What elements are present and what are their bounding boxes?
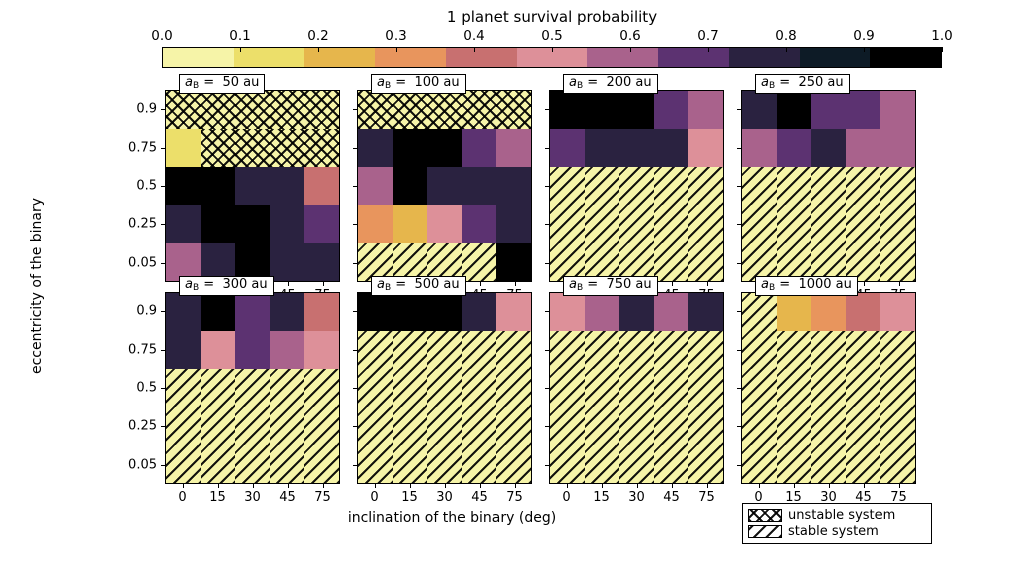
x-tick-mark: [410, 484, 411, 488]
heatmap-cell: [619, 407, 654, 445]
heatmap-cell: [166, 167, 201, 205]
heatmap-cell: [462, 243, 497, 281]
heatmap-cell: [201, 167, 236, 205]
heatmap-cell: [619, 293, 654, 331]
legend-row: unstable system: [748, 507, 926, 523]
x-tick-mark: [323, 484, 324, 488]
heatmap-cell: [358, 167, 393, 205]
heatmap-cell: [393, 369, 428, 407]
heatmap-cells: [358, 91, 531, 281]
colorbar-tick-mark: [162, 47, 163, 52]
y-tick-label: 0.25: [109, 217, 157, 232]
heatmap-cell: [619, 369, 654, 407]
heatmap-cell: [304, 445, 339, 483]
x-tick-mark: [707, 484, 708, 488]
y-tick-mark: [353, 263, 357, 264]
heatmap-cell: [358, 407, 393, 445]
heatmap-cell: [393, 205, 428, 243]
heatmap-cell: [777, 407, 812, 445]
y-tick-mark: [161, 465, 165, 466]
heatmap-cell: [427, 129, 462, 167]
heatmap-panel: [741, 90, 916, 282]
heatmap-cells: [550, 91, 723, 281]
heatmap-cell: [654, 407, 689, 445]
colorbar-tick-label: 0.9: [853, 28, 874, 44]
y-tick-mark: [353, 311, 357, 312]
y-tick-mark: [545, 311, 549, 312]
x-tick-label: 75: [698, 490, 715, 505]
heatmap-cell: [880, 407, 915, 445]
y-tick-label: 0.05: [109, 255, 157, 270]
heatmap-cell: [304, 205, 339, 243]
heatmap-cell: [235, 205, 270, 243]
heatmap-cell: [550, 129, 585, 167]
heatmap-cell: [496, 167, 531, 205]
heatmap-cells: [166, 293, 339, 483]
x-tick-label: 45: [663, 490, 680, 505]
x-tick-mark: [375, 484, 376, 488]
heatmap-cell: [496, 407, 531, 445]
heatmap-cell: [270, 243, 305, 281]
heatmap-cell: [585, 205, 620, 243]
colorbar-tick-mark: [318, 47, 319, 52]
heatmap-cell: [742, 91, 777, 129]
heatmap-cell: [585, 369, 620, 407]
y-tick-mark: [545, 426, 549, 427]
colorbar-tick-mark: [474, 47, 475, 52]
heatmap-cell: [270, 129, 305, 167]
x-tick-mark: [480, 282, 481, 286]
heatmap-cell: [304, 293, 339, 331]
heatmap-panel: [549, 292, 724, 484]
heatmap-cell: [880, 91, 915, 129]
heatmap-cell: [880, 243, 915, 281]
panel-title: aB = 750 au: [563, 276, 658, 296]
heatmap-cell: [462, 91, 497, 129]
y-tick-mark: [161, 311, 165, 312]
heatmap-panel: [549, 90, 724, 282]
x-tick-mark: [899, 282, 900, 286]
heatmap-cell: [201, 331, 236, 369]
heatmap-cell: [201, 293, 236, 331]
y-tick-mark: [161, 186, 165, 187]
heatmap-cell: [393, 331, 428, 369]
x-tick-label: 15: [209, 490, 226, 505]
y-tick-mark: [161, 148, 165, 149]
heatmap-cell: [688, 205, 723, 243]
heatmap-cell: [619, 205, 654, 243]
heatmap-cell: [393, 407, 428, 445]
heatmap-cell: [496, 91, 531, 129]
heatmap-cell: [811, 91, 846, 129]
x-tick-label: 75: [506, 490, 523, 505]
y-tick-mark: [737, 109, 741, 110]
heatmap-cell: [270, 205, 305, 243]
heatmap-cell: [846, 167, 881, 205]
heatmap-cell: [427, 91, 462, 129]
x-tick-mark: [707, 282, 708, 286]
heatmap-cell: [777, 129, 812, 167]
heatmap-cell: [619, 91, 654, 129]
heatmap-cell: [846, 369, 881, 407]
panel-title: aB = 200 au: [563, 74, 658, 94]
heatmap-cell: [201, 445, 236, 483]
heatmap-cell: [654, 293, 689, 331]
heatmap-cell: [846, 205, 881, 243]
heatmap-cell: [462, 369, 497, 407]
y-tick-mark: [353, 148, 357, 149]
heatmap-cell: [654, 91, 689, 129]
legend-row: stable system: [748, 523, 926, 539]
panel-title: aB = 500 au: [371, 276, 466, 296]
heatmap-cell: [496, 445, 531, 483]
heatmap-cell: [846, 407, 881, 445]
heatmap-cells: [166, 91, 339, 281]
y-tick-mark: [161, 109, 165, 110]
heatmap-cell: [427, 445, 462, 483]
y-tick-mark: [161, 224, 165, 225]
x-tick-mark: [829, 484, 830, 488]
heatmap-cell: [496, 331, 531, 369]
heatmap-cell: [304, 167, 339, 205]
colorbar-tick-labels: 0.00.10.20.30.40.50.60.70.80.91.0: [162, 28, 942, 46]
x-tick-mark: [288, 282, 289, 286]
heatmap-cell: [496, 129, 531, 167]
legend-label: stable system: [788, 525, 879, 538]
heatmap-cell: [235, 293, 270, 331]
heatmap-cell: [393, 167, 428, 205]
heatmap-cell: [811, 407, 846, 445]
heatmap-cell: [777, 445, 812, 483]
heatmap-cell: [585, 167, 620, 205]
heatmap-cell: [619, 331, 654, 369]
legend-swatch-unstable-icon: [748, 509, 782, 522]
heatmap-cell: [742, 293, 777, 331]
heatmap-cell: [201, 91, 236, 129]
heatmap-cell: [777, 369, 812, 407]
heatmap-cell: [585, 331, 620, 369]
y-tick-label: 0.75: [109, 140, 157, 155]
heatmap-cell: [270, 369, 305, 407]
heatmap-cell: [550, 407, 585, 445]
heatmap-cell: [550, 167, 585, 205]
colorbar-title: 1 planet survival probability: [162, 8, 942, 26]
y-tick-mark: [353, 388, 357, 389]
heatmap-cell: [550, 331, 585, 369]
y-tick-mark: [353, 426, 357, 427]
y-tick-mark: [737, 263, 741, 264]
colorbar-tick-mark: [942, 47, 943, 52]
y-tick-mark: [545, 148, 549, 149]
heatmap-cell: [496, 293, 531, 331]
heatmap-cell: [880, 331, 915, 369]
y-tick-label: 0.9: [109, 102, 157, 117]
heatmap-cell: [166, 129, 201, 167]
heatmap-cell: [427, 331, 462, 369]
heatmap-cell: [688, 407, 723, 445]
heatmap-cell: [742, 407, 777, 445]
heatmap-cell: [393, 293, 428, 331]
heatmap-cell: [550, 293, 585, 331]
heatmap-cell: [880, 205, 915, 243]
y-tick-label: 0.25: [109, 419, 157, 434]
panel-title: aB = 1000 au: [755, 276, 858, 296]
y-tick-mark: [545, 465, 549, 466]
heatmap-cell: [235, 129, 270, 167]
heatmap-cell: [654, 243, 689, 281]
heatmap-cells: [742, 91, 915, 281]
colorbar-tick-label: 1.0: [931, 28, 952, 44]
heatmap-cell: [777, 205, 812, 243]
heatmap-cell: [235, 407, 270, 445]
heatmap-cell: [688, 293, 723, 331]
heatmap-panel: [165, 292, 340, 484]
heatmap-cell: [304, 369, 339, 407]
heatmap-cell: [270, 407, 305, 445]
heatmap-cell: [654, 167, 689, 205]
heatmap-cell: [742, 205, 777, 243]
x-tick-label: 0: [562, 490, 570, 505]
x-tick-mark: [672, 282, 673, 286]
colorbar-tick-label: 0.5: [541, 28, 562, 44]
colorbar-tick-label: 0.3: [385, 28, 406, 44]
colorbar-tick-mark: [708, 47, 709, 52]
heatmap-cell: [393, 91, 428, 129]
heatmap-cell: [742, 331, 777, 369]
y-tick-mark: [545, 224, 549, 225]
y-tick-label: 0.5: [109, 381, 157, 396]
heatmap-cell: [846, 445, 881, 483]
colorbar-tick-label: 0.2: [307, 28, 328, 44]
heatmap-cell: [235, 445, 270, 483]
heatmap-cell: [811, 331, 846, 369]
x-tick-mark: [515, 484, 516, 488]
x-tick-mark: [480, 484, 481, 488]
heatmap-cell: [777, 167, 812, 205]
heatmap-cells: [742, 293, 915, 483]
heatmap-cell: [688, 243, 723, 281]
colorbar-tick-label: 0.6: [619, 28, 640, 44]
colorbar-tick-label: 0.1: [229, 28, 250, 44]
y-tick-mark: [545, 388, 549, 389]
heatmap-cell: [462, 167, 497, 205]
y-tick-mark: [737, 426, 741, 427]
heatmap-cell: [235, 167, 270, 205]
heatmap-cell: [654, 129, 689, 167]
heatmap-cell: [846, 129, 881, 167]
colorbar-tick-mark: [630, 47, 631, 52]
heatmap-cell: [358, 205, 393, 243]
y-tick-mark: [353, 186, 357, 187]
heatmap-cell: [619, 445, 654, 483]
y-tick-mark: [737, 350, 741, 351]
x-tick-mark: [288, 484, 289, 488]
x-tick-mark: [759, 484, 760, 488]
heatmap-panel: [741, 292, 916, 484]
heatmap-cell: [880, 167, 915, 205]
x-tick-label: 30: [628, 490, 645, 505]
heatmap-cell: [201, 369, 236, 407]
heatmap-cell: [427, 167, 462, 205]
y-axis-title: eccentricity of the binary: [29, 171, 45, 401]
x-tick-label: 0: [178, 490, 186, 505]
heatmap-cell: [201, 407, 236, 445]
heatmap-cell: [742, 167, 777, 205]
heatmap-cell: [270, 445, 305, 483]
x-tick-mark: [183, 484, 184, 488]
panel-title: aB = 300 au: [179, 276, 274, 296]
heatmap-cell: [496, 205, 531, 243]
heatmap-cell: [166, 205, 201, 243]
panel-title: aB = 250 au: [755, 74, 850, 94]
heatmap-cell: [166, 407, 201, 445]
y-tick-mark: [161, 263, 165, 264]
heatmap-cell: [811, 205, 846, 243]
heatmap-cells: [550, 293, 723, 483]
colorbar-ticks: [162, 47, 942, 53]
colorbar-tick-mark: [786, 47, 787, 52]
x-tick-mark: [602, 484, 603, 488]
heatmap-cell: [880, 129, 915, 167]
heatmap-cell: [880, 369, 915, 407]
heatmap-cell: [235, 91, 270, 129]
heatmap-cell: [427, 293, 462, 331]
x-tick-mark: [864, 282, 865, 286]
x-tick-mark: [672, 484, 673, 488]
heatmap-cell: [742, 369, 777, 407]
heatmap-cell: [811, 445, 846, 483]
heatmap-cell: [358, 331, 393, 369]
y-tick-label: 0.75: [109, 342, 157, 357]
panel-title: aB = 100 au: [371, 74, 466, 94]
y-tick-mark: [161, 426, 165, 427]
x-tick-label: 75: [314, 490, 331, 505]
heatmap-cells: [358, 293, 531, 483]
y-tick-label: 0.5: [109, 179, 157, 194]
x-tick-mark: [637, 484, 638, 488]
colorbar-tick-label: 0.0: [151, 28, 172, 44]
heatmap-cell: [550, 445, 585, 483]
x-tick-label: 30: [436, 490, 453, 505]
heatmap-cell: [304, 407, 339, 445]
heatmap-cell: [688, 91, 723, 129]
colorbar-tick-mark: [396, 47, 397, 52]
heatmap-cell: [688, 369, 723, 407]
x-tick-mark: [899, 484, 900, 488]
heatmap-cell: [462, 205, 497, 243]
heatmap-cell: [462, 407, 497, 445]
heatmap-cell: [585, 91, 620, 129]
x-axis-title: inclination of the binary (deg): [262, 510, 642, 526]
heatmap-cell: [393, 445, 428, 483]
heatmap-cell: [654, 205, 689, 243]
y-tick-label: 0.05: [109, 457, 157, 472]
heatmap-cell: [811, 129, 846, 167]
heatmap-cell: [811, 167, 846, 205]
heatmap-cell: [270, 91, 305, 129]
heatmap-cell: [585, 407, 620, 445]
heatmap-panel: [357, 292, 532, 484]
x-tick-mark: [218, 484, 219, 488]
heatmap-cell: [166, 91, 201, 129]
heatmap-panel: [357, 90, 532, 282]
y-tick-mark: [161, 350, 165, 351]
heatmap-cell: [235, 369, 270, 407]
heatmap-cell: [654, 331, 689, 369]
heatmap-cell: [462, 445, 497, 483]
y-tick-mark: [545, 186, 549, 187]
x-tick-label: 15: [401, 490, 418, 505]
heatmap-cell: [358, 91, 393, 129]
x-tick-mark: [515, 282, 516, 286]
heatmap-cell: [235, 331, 270, 369]
heatmap-cell: [777, 331, 812, 369]
heatmap-cell: [688, 167, 723, 205]
heatmap-cell: [585, 129, 620, 167]
x-tick-label: 30: [244, 490, 261, 505]
figure-canvas: 1 planet survival probability 0.00.10.20…: [0, 0, 1024, 580]
heatmap-cell: [358, 293, 393, 331]
heatmap-cell: [462, 129, 497, 167]
heatmap-cell: [846, 91, 881, 129]
colorbar-tick-label: 0.8: [775, 28, 796, 44]
y-tick-mark: [545, 109, 549, 110]
y-tick-mark: [161, 388, 165, 389]
heatmap-cell: [462, 293, 497, 331]
heatmap-cell: [462, 331, 497, 369]
heatmap-cell: [619, 167, 654, 205]
panel-title: aB = 50 au: [179, 74, 265, 94]
heatmap-cell: [777, 91, 812, 129]
x-tick-mark: [253, 484, 254, 488]
y-tick-mark: [737, 224, 741, 225]
heatmap-cell: [880, 445, 915, 483]
heatmap-cell: [427, 369, 462, 407]
heatmap-cell: [846, 331, 881, 369]
x-tick-mark: [864, 484, 865, 488]
heatmap-cell: [166, 293, 201, 331]
colorbar-tick-mark: [240, 47, 241, 52]
heatmap-cell: [166, 331, 201, 369]
heatmap-cell: [585, 293, 620, 331]
x-tick-mark: [794, 484, 795, 488]
colorbar-tick-mark: [864, 47, 865, 52]
heatmap-cell: [496, 243, 531, 281]
x-tick-mark: [445, 484, 446, 488]
heatmap-cell: [427, 205, 462, 243]
y-tick-mark: [545, 263, 549, 264]
heatmap-cell: [496, 369, 531, 407]
x-tick-label: 0: [370, 490, 378, 505]
heatmap-cell: [358, 369, 393, 407]
heatmap-cell: [304, 129, 339, 167]
heatmap-cell: [811, 369, 846, 407]
heatmap-cell: [270, 293, 305, 331]
heatmap-cell: [427, 407, 462, 445]
heatmap-cell: [619, 129, 654, 167]
heatmap-cell: [166, 369, 201, 407]
heatmap-cell: [304, 91, 339, 129]
heatmap-cell: [550, 369, 585, 407]
y-tick-mark: [353, 109, 357, 110]
x-tick-label: 45: [471, 490, 488, 505]
legend-swatch-stable-icon: [748, 525, 782, 538]
y-tick-mark: [737, 186, 741, 187]
colorbar-tick-label: 0.4: [463, 28, 484, 44]
heatmap-cell: [393, 129, 428, 167]
heatmap-cell: [550, 205, 585, 243]
y-tick-mark: [737, 311, 741, 312]
